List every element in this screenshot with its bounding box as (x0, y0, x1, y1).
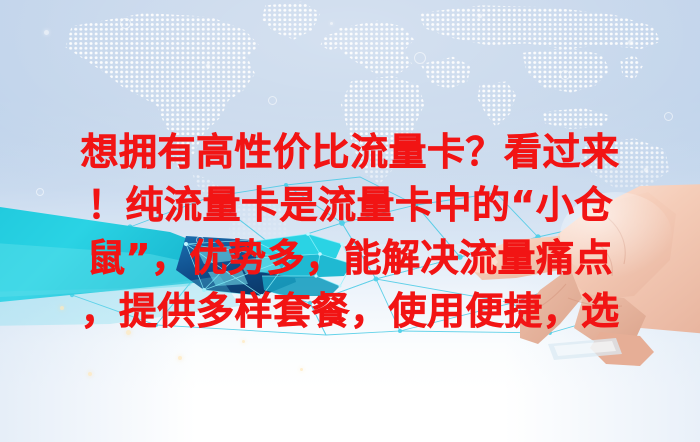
headline-line-4: ，提供多样套餐，使用便捷，选 (8, 285, 692, 338)
headline-text-block: 想拥有高性价比流量卡？看过来 ！纯流量卡是流量卡中的“小仓 鼠”，优势多，能解决… (0, 126, 700, 338)
headline-line-1: 想拥有高性价比流量卡？看过来 (8, 126, 692, 179)
headline-line-3: 鼠”，优势多，能解决流量痛点 (8, 232, 692, 285)
promo-poster: 想拥有高性价比流量卡？看过来 ！纯流量卡是流量卡中的“小仓 鼠”，优势多，能解决… (0, 0, 700, 442)
headline-line-2: ！纯流量卡是流量卡中的“小仓 (8, 179, 692, 232)
